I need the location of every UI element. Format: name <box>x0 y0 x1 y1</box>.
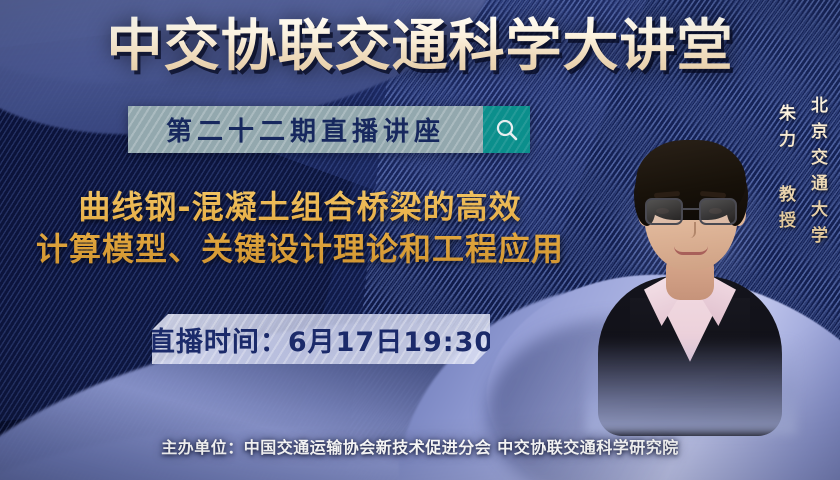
portrait-mouth <box>674 246 708 255</box>
organizer-footer: 主办单位：中国交通运输协会新技术促进分会 中交协联交通科学研究院 <box>0 434 840 458</box>
broadcast-time-banner: 直播时间：6月17日19:30 <box>152 314 490 364</box>
glasses-lens-left <box>645 198 683 225</box>
lecture-title: 曲线钢-混凝土组合桥梁的高效 计算模型、关键设计理论和工程应用 <box>0 186 600 270</box>
live-lecture-poster: 中交协联交通科学大讲堂 第二十二期直播讲座 曲线钢-混凝土组合桥梁的高效 计算模… <box>0 0 840 480</box>
speaker-portrait <box>596 128 782 428</box>
search-icon <box>494 117 520 143</box>
episode-bar: 第二十二期直播讲座 <box>128 106 530 153</box>
episode-label: 第二十二期直播讲座 <box>166 111 445 148</box>
glasses-bridge <box>683 208 699 210</box>
portrait-bottom-fade <box>586 338 796 434</box>
lecture-title-line-1: 曲线钢-混凝土组合桥梁的高效 <box>0 186 600 228</box>
portrait-nose <box>686 222 696 238</box>
lecture-title-line-2: 计算模型、关键设计理论和工程应用 <box>0 228 600 270</box>
speaker-affiliation-vertical: 北京交通大学 <box>805 96 830 252</box>
search-button[interactable] <box>483 106 530 153</box>
speaker-name-vertical: 朱力 教授 <box>773 104 798 237</box>
glasses-lens-right <box>699 198 737 225</box>
broadcast-time-text: 直播时间：6月17日19:30 <box>152 320 490 359</box>
main-title: 中交协联交通科学大讲堂 <box>0 14 840 80</box>
episode-label-box: 第二十二期直播讲座 <box>128 106 483 153</box>
